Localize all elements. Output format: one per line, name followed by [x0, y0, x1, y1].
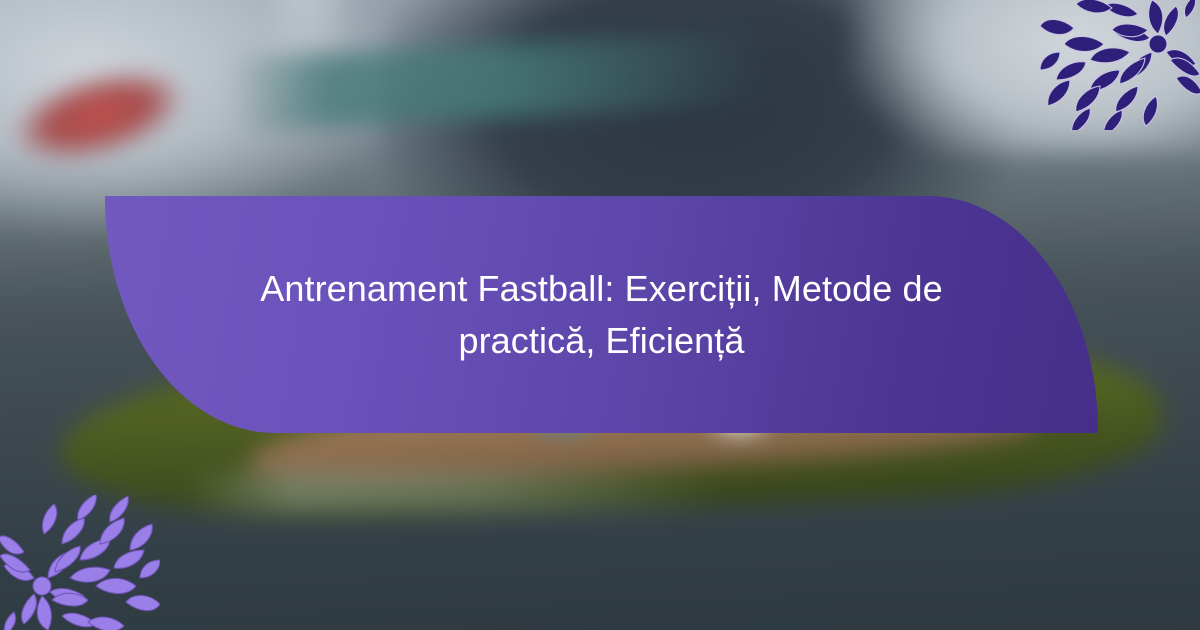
headline-banner: Antrenament Fastball: Exerciții, Metode … — [105, 196, 1098, 433]
photo-seat-speckles — [184, 471, 725, 513]
page-title: Antrenament Fastball: Exerciții, Metode … — [232, 263, 972, 365]
photo-building-right — [850, 0, 1200, 154]
social-share-card: Antrenament Fastball: Exerciții, Metode … — [0, 0, 1200, 630]
